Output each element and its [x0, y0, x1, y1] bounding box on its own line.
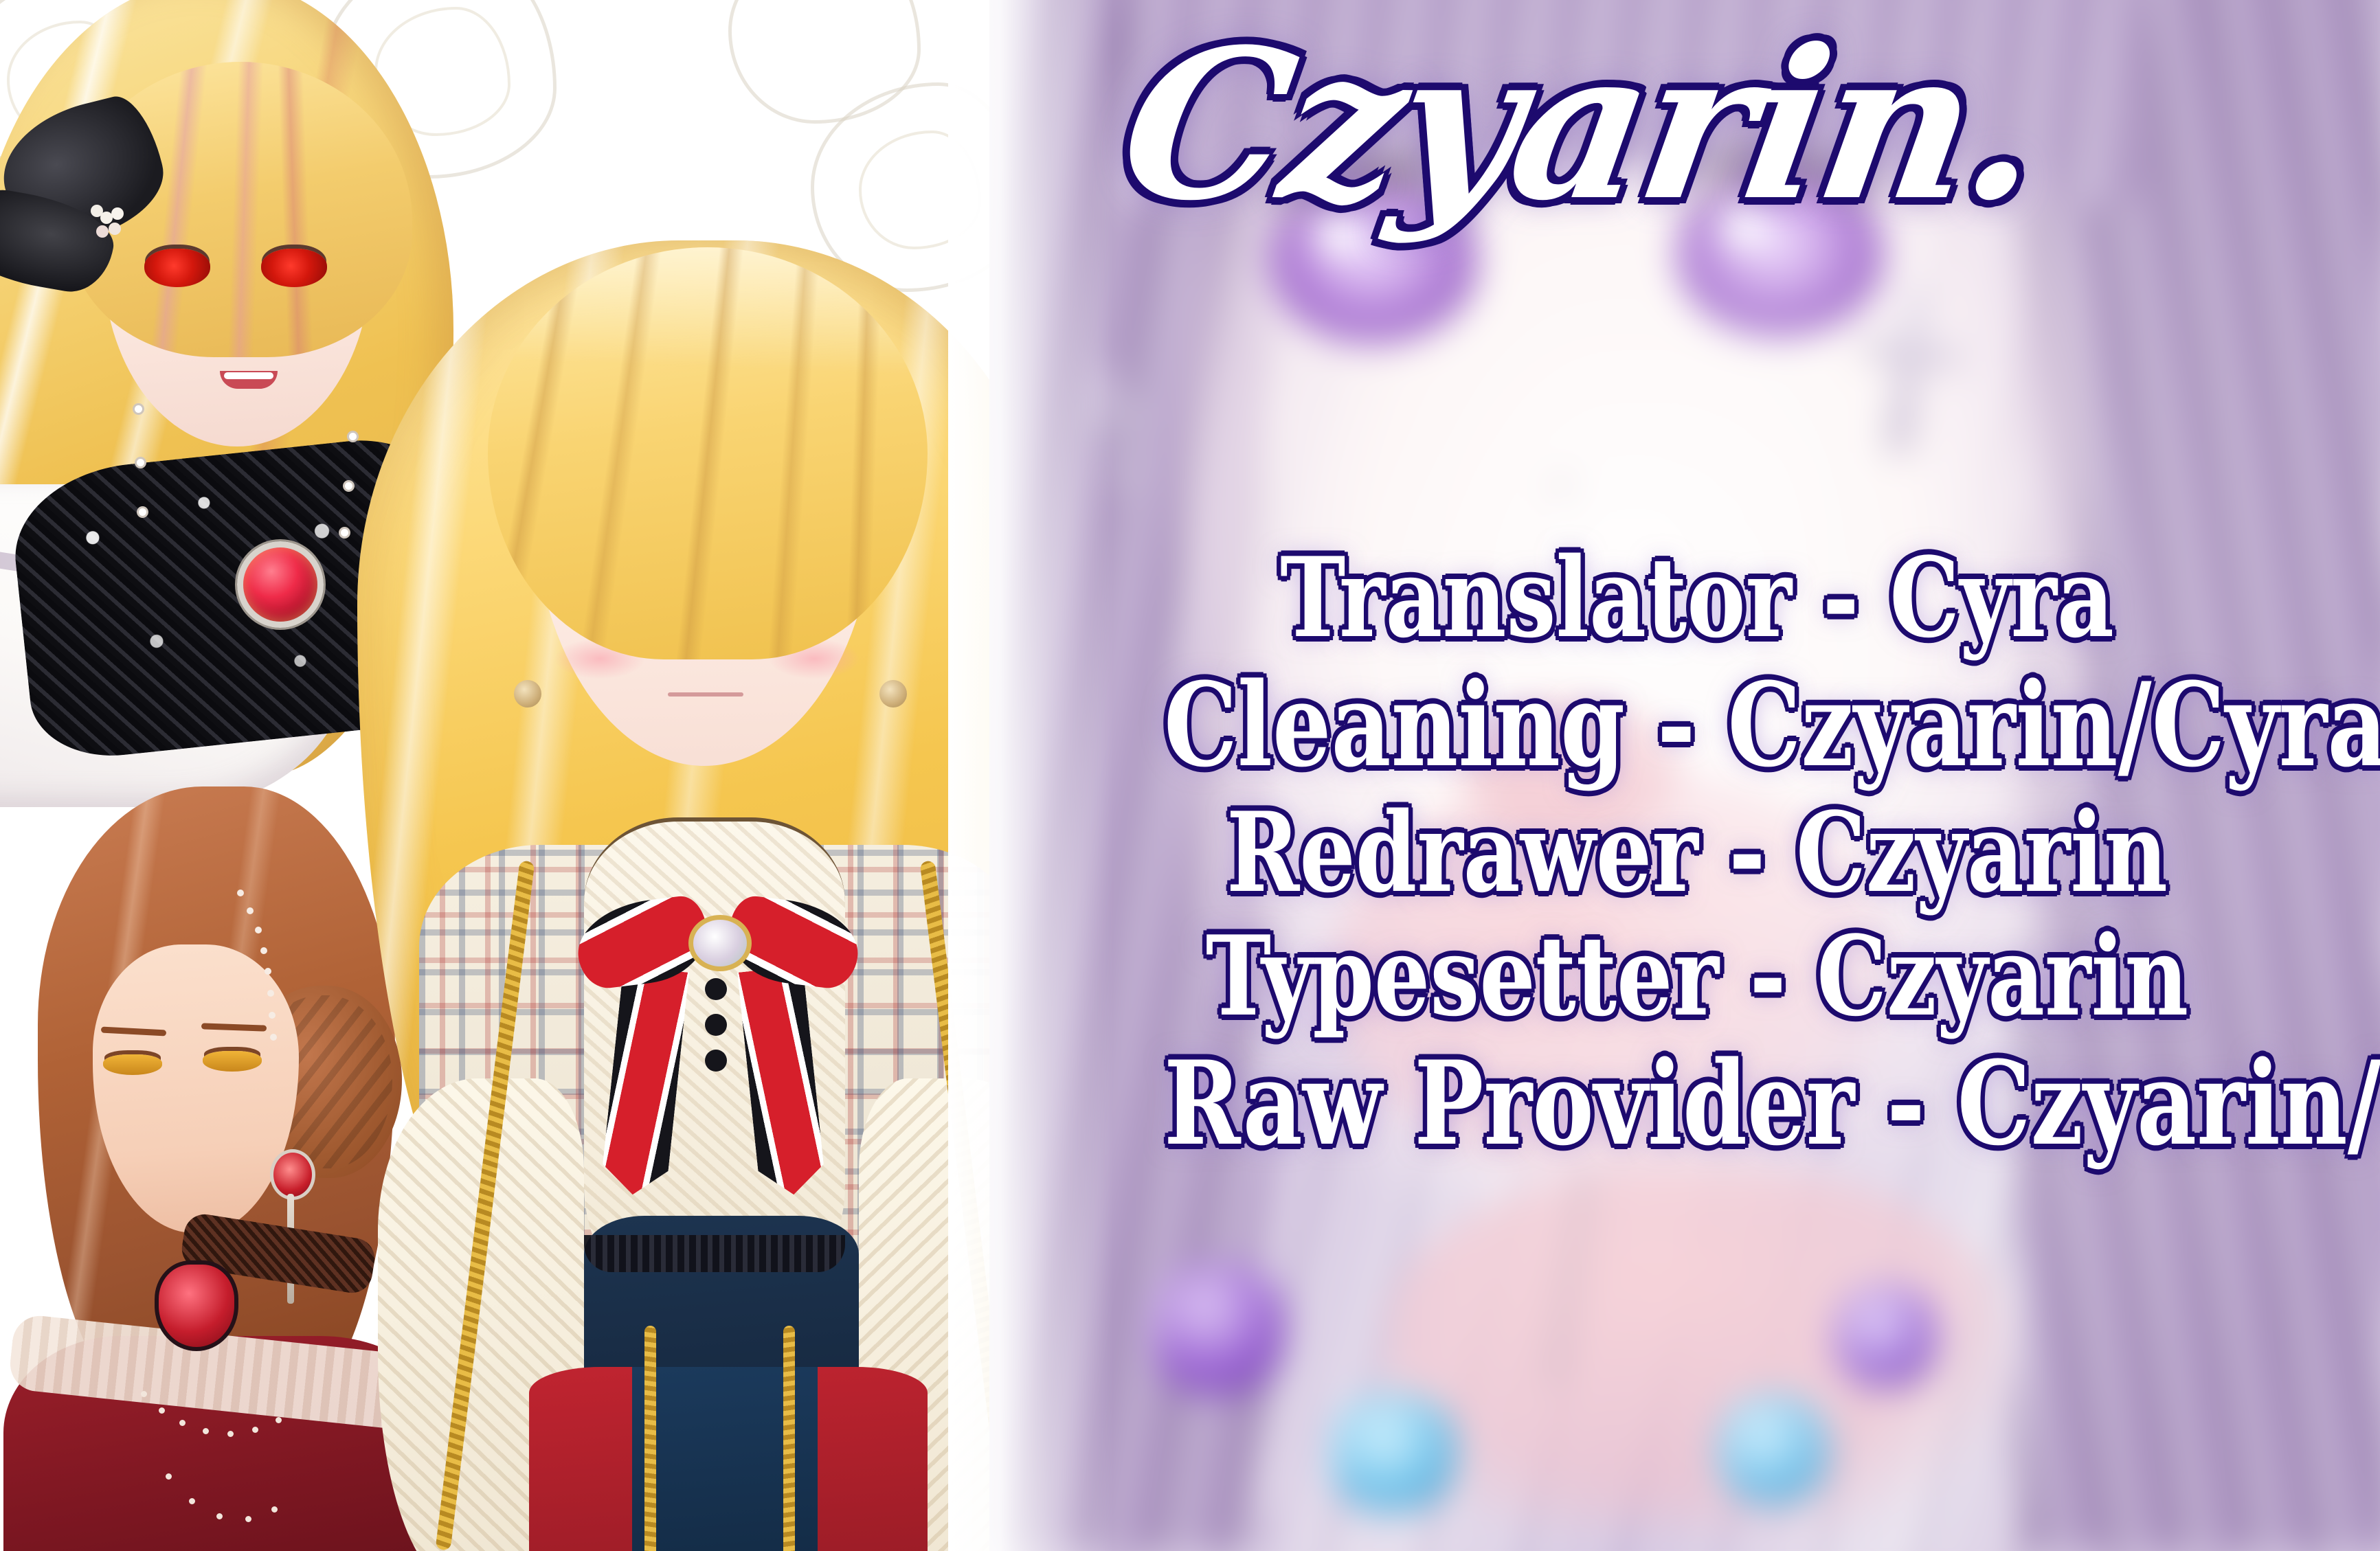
mouth: [220, 371, 278, 389]
eye-left: [144, 249, 210, 287]
eye-left: [103, 1054, 162, 1075]
character-main-center: [357, 199, 1072, 1551]
hair-bangs: [488, 247, 928, 659]
left-artwork-panel: [0, 0, 1072, 1551]
eye-right: [261, 249, 327, 287]
credit-line-redrawer: Redrawer - Czyarin: [1164, 791, 2230, 915]
credit-line-cleaning: Cleaning - Czyarin/Cyra: [1164, 660, 2230, 791]
ruby-brooch-icon: [155, 1260, 238, 1351]
gold-rope-cord-center-right: [783, 1326, 795, 1551]
pearl-earring-right-icon: [349, 433, 357, 440]
credits-list: Translator - Cyra Cleaning - Czyarin/Cyr…: [1031, 536, 2364, 1169]
ruby-brooch-icon: [237, 541, 324, 628]
pearl-earring-left-icon: [135, 405, 142, 413]
credit-line-raw-provider: Raw Provider - Czyarin/Cyra: [1164, 1039, 2230, 1169]
ruby-drop-earring-icon: [270, 1149, 315, 1200]
black-lace-hem: [584, 1235, 845, 1272]
credit-line-translator: Translator - Cyra: [1164, 536, 2230, 660]
gold-rope-cord-center-left: [644, 1326, 656, 1551]
earring-left-icon: [514, 680, 541, 707]
pearl-body-chain-icon: [141, 1391, 147, 1397]
credits-page: Czyarin. Translator - Cyra Cleaning - Cz…: [0, 0, 2380, 1551]
mouth: [668, 692, 743, 697]
pearl-hair-strand-icon: [237, 890, 244, 896]
eye-right: [203, 1051, 262, 1072]
oval-brooch-icon: [688, 915, 752, 971]
button-row-icon: [705, 978, 727, 1000]
earring-right-icon: [879, 680, 907, 707]
page-title: Czyarin.: [1109, 14, 2380, 236]
credit-line-typesetter: Typesetter - Czyarin: [1164, 914, 2230, 1039]
pearl-cluster-icon: [91, 205, 103, 217]
